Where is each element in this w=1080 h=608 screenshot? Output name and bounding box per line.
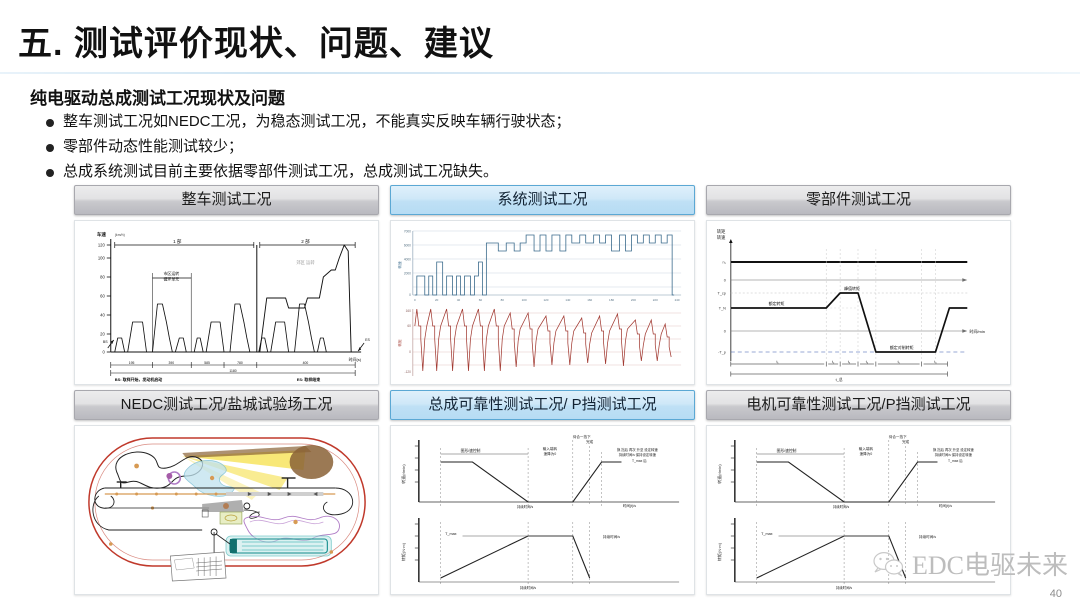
watermark-text: EDC电驱未来 (912, 545, 1068, 582)
svg-text:额定转矩: 额定转矩 (769, 301, 785, 306)
svg-text:2 部: 2 部 (301, 238, 310, 245)
svg-text:换 挡后 再次 升至 设定转速: 换 挡后 再次 升至 设定转速 (933, 447, 974, 452)
list-item: 零部件动态性能测试较少； (46, 137, 571, 157)
svg-text:转矩: 转矩 (717, 228, 726, 235)
section-subheading: 纯电驱动总成测试工况现状及问题 (30, 84, 285, 109)
svg-text:时间/min: 时间/min (970, 329, 985, 334)
svg-text:输入端转: 输入端转 (543, 446, 558, 451)
svg-text:持续时间/s: 持续时间/s (919, 534, 936, 539)
wechat-logo-icon (872, 550, 906, 578)
svg-text:T_max: T_max (445, 532, 457, 536)
svg-text:220: 220 (653, 298, 658, 302)
svg-text:T_cp: T_cp (718, 291, 726, 295)
watermark: EDC电驱未来 (872, 545, 1068, 582)
svg-text:60: 60 (407, 324, 411, 328)
svg-text:0: 0 (409, 293, 411, 297)
chart-assembly-rel: 转速(r/min) 图形/速控制 输入端转 速降为0 待合一挡下 完成 换 挡后… (390, 425, 695, 595)
svg-text:120: 120 (543, 298, 548, 302)
svg-text:400: 400 (303, 361, 309, 365)
svg-text:完成: 完成 (586, 439, 594, 444)
svg-text:额定对制转矩: 额定对制转矩 (890, 345, 914, 350)
svg-text:待合一挡下: 待合一挡下 (889, 434, 907, 439)
svg-text:160: 160 (587, 298, 592, 302)
svg-text:转矩: 转矩 (397, 339, 402, 347)
svg-text:40: 40 (100, 312, 105, 317)
svg-text:BS: 取样开始，发动机启动: BS: 取样开始，发动机启动 (115, 377, 162, 382)
svg-text:60: 60 (100, 293, 105, 298)
svg-text:峰值转矩: 峰值转矩 (844, 286, 860, 291)
svg-text:-T_p: -T_p (718, 350, 726, 354)
svg-text:60: 60 (479, 298, 483, 302)
page-title: 五. 测试评价现状、问题、建议 (18, 16, 494, 65)
svg-text:图形/速控制: 图形/速控制 (461, 448, 481, 453)
svg-text:转矩(N·m): 转矩(N·m) (717, 542, 722, 561)
svg-text:80: 80 (100, 274, 105, 279)
svg-text:持续时间/s 保持设定转速: 持续时间/s 保持设定转速 (935, 452, 973, 457)
panel-title-nedc-proving: NEDC测试工况/盐城试验场工况 (74, 390, 379, 420)
svg-text:循环单元: 循环单元 (163, 276, 179, 281)
svg-text:BS: BS (103, 340, 108, 344)
svg-text:转速: 转速 (717, 234, 726, 241)
svg-text:ES: 取样结束: ES: 取样结束 (297, 377, 322, 382)
svg-text:40: 40 (457, 298, 461, 302)
bullet-dot-icon (46, 119, 54, 127)
svg-text:100: 100 (98, 255, 106, 260)
svg-text:(km/h): (km/h) (115, 233, 125, 237)
panel-system-cycle: 系统测试工况 70006000 40002000 0 (390, 185, 695, 385)
svg-text:速降为0: 速降为0 (860, 451, 873, 456)
svg-text:郊区 运转: 郊区 运转 (296, 259, 315, 266)
panel-component-cycle: 零部件测试工况 转矩 转速 n₁ 0 T_cp T_N 0 -T_p (706, 185, 1011, 385)
svg-text:图形/速控制: 图形/速控制 (777, 448, 797, 453)
svg-text:T_N: T_N (719, 306, 726, 310)
svg-text:240: 240 (675, 298, 680, 302)
svg-text:20: 20 (100, 331, 105, 336)
svg-text:-120: -120 (405, 370, 412, 374)
bullet-dot-icon (46, 169, 54, 177)
bullet-text: 总成系统测试目前主要依据零部件测试工况，总成测试工况缺失。 (63, 162, 498, 182)
svg-text:转速(r/min): 转速(r/min) (401, 464, 406, 484)
panel-nedc-proving: NEDC测试工况/盐城试验场工况 (74, 390, 379, 595)
svg-text:持续时间/s 保持设定转速: 持续时间/s 保持设定转速 (619, 452, 657, 457)
svg-text:持续时间/s: 持续时间/s (517, 504, 533, 509)
svg-text:车速: 车速 (97, 231, 107, 238)
svg-text:2000: 2000 (404, 271, 411, 275)
svg-text:120: 120 (98, 242, 106, 247)
svg-text:持续时间/s: 持续时间/s (520, 585, 536, 590)
svg-text:20: 20 (435, 298, 439, 302)
svg-text:1180: 1180 (229, 369, 236, 373)
svg-text:速降为0: 速降为0 (544, 451, 557, 456)
svg-text:7000: 7000 (404, 229, 411, 233)
svg-text:市区运转: 市区运转 (163, 271, 179, 276)
svg-text:ES: ES (365, 338, 370, 342)
list-item: 总成系统测试目前主要依据零部件测试工况，总成测试工况缺失。 (46, 162, 571, 182)
panel-title-component-cycle: 零部件测试工况 (706, 185, 1011, 215)
svg-text:140: 140 (565, 298, 570, 302)
chart-component-cycle: 转矩 转速 n₁ 0 T_cp T_N 0 -T_p (706, 220, 1011, 385)
svg-text:200: 200 (631, 298, 636, 302)
svg-text:160: 160 (406, 309, 412, 313)
svg-text:80: 80 (501, 298, 505, 302)
bullet-dot-icon (46, 144, 54, 152)
svg-text:待合一挡下: 待合一挡下 (573, 434, 591, 439)
svg-text:195: 195 (129, 361, 135, 365)
svg-text:T_max: T_max (761, 532, 773, 536)
svg-text:180: 180 (609, 298, 614, 302)
panel-title-system-cycle: 系统测试工况 (390, 185, 695, 215)
svg-text:4000: 4000 (404, 257, 411, 261)
diagram-nedc-proving (74, 425, 379, 595)
panel-vehicle-cycle: 整车测试工况 020 4060 80100 120 车速 (km/h) (74, 185, 379, 385)
svg-text:时间(s): 时间(s) (349, 357, 362, 362)
svg-text:585: 585 (204, 361, 210, 365)
svg-text:时间(t)/s: 时间(t)/s (623, 503, 636, 508)
title-divider (0, 72, 1080, 74)
panel-title-motor-rel: 电机可靠性测试工况/P挡测试工况 (706, 390, 1011, 420)
svg-text:转速: 转速 (397, 261, 402, 269)
svg-text:t_总: t_总 (836, 377, 843, 382)
bullet-list: 整车测试工况如NEDC工况，为稳态测试工况，不能真实反映车辆行驶状态； 零部件动… (46, 112, 571, 187)
svg-text:T_max 后: T_max 后 (632, 458, 647, 463)
svg-text:输入端转: 输入端转 (859, 446, 874, 451)
bullet-text: 整车测试工况如NEDC工况，为稳态测试工况，不能真实反映车辆行驶状态； (63, 112, 571, 132)
svg-text:完成: 完成 (902, 439, 910, 444)
chart-vehicle-cycle: 020 4060 80100 120 车速 (km/h) 1 部 2 部 市区运… (74, 220, 379, 385)
svg-text:6000: 6000 (404, 243, 411, 247)
svg-text:T_max 后: T_max 后 (948, 458, 963, 463)
svg-text:持续时间/s: 持续时间/s (833, 504, 849, 509)
svg-text:转矩(N·m): 转矩(N·m) (401, 542, 406, 561)
svg-text:390: 390 (169, 361, 175, 365)
bullet-text: 零部件动态性能测试较少； (63, 137, 243, 157)
svg-text:持续时间/s: 持续时间/s (836, 585, 852, 590)
chart-system-cycle: 70006000 40002000 0 转速 02040 6080100 120… (390, 220, 695, 385)
svg-text:0: 0 (724, 278, 726, 282)
svg-text:0: 0 (724, 329, 726, 333)
svg-text:780: 780 (237, 361, 243, 365)
list-item: 整车测试工况如NEDC工况，为稳态测试工况，不能真实反映车辆行驶状态； (46, 112, 571, 132)
page-number: 40 (1050, 588, 1062, 600)
svg-text:转速(r/min): 转速(r/min) (717, 464, 722, 484)
svg-text:时间(t)/s: 时间(t)/s (939, 503, 952, 508)
svg-text:0: 0 (409, 350, 411, 354)
panel-assembly-rel: 总成可靠性测试工况/ P挡测试工况 转速(r/min) 图形/速控制 输入端转 (390, 390, 695, 595)
svg-text:1 部: 1 部 (173, 238, 182, 245)
panel-title-vehicle-cycle: 整车测试工况 (74, 185, 379, 215)
panel-title-assembly-rel: 总成可靠性测试工况/ P挡测试工况 (390, 390, 695, 420)
svg-text:换 挡后 再次 升至 设定转速: 换 挡后 再次 升至 设定转速 (617, 447, 658, 452)
svg-text:100: 100 (522, 298, 527, 302)
svg-text:持续时间/s: 持续时间/s (603, 534, 620, 539)
